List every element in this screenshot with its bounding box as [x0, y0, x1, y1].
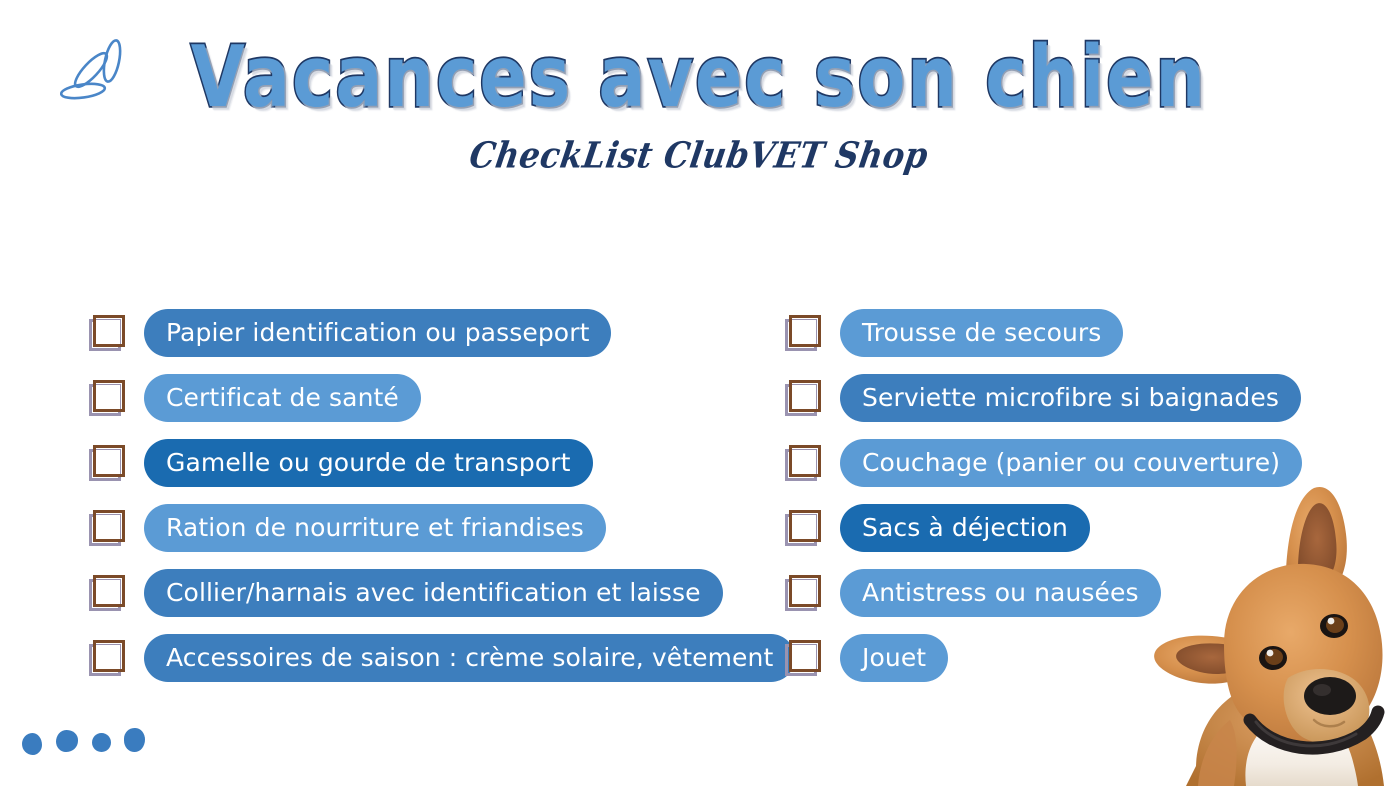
- checkbox-border-square: [93, 640, 125, 672]
- checkbox-border-square: [789, 380, 821, 412]
- checklist-item-label[interactable]: Accessoires de saison : crème solaire, v…: [144, 634, 795, 682]
- checklist-row[interactable]: Papier identification ou passeport: [88, 300, 795, 365]
- checklist-item-label[interactable]: Papier identification ou passeport: [144, 309, 611, 357]
- checklist-column-left: Papier identification ou passeportCertif…: [88, 300, 795, 690]
- checkbox-border-square: [93, 380, 125, 412]
- checkbox-right-5[interactable]: [784, 574, 822, 612]
- checkbox-left-4[interactable]: [88, 509, 126, 547]
- page-subtitle: CheckList ClubVET Shop: [467, 134, 932, 177]
- checklist-item-label[interactable]: Ration de nourriture et friandises: [144, 504, 606, 552]
- checklist-row[interactable]: Collier/harnais avec identification et l…: [88, 560, 795, 625]
- checkbox-right-6[interactable]: [784, 639, 822, 677]
- page-subtitle-container: CheckList ClubVET Shop: [0, 136, 1398, 174]
- checklist-row[interactable]: Accessoires de saison : crème solaire, v…: [88, 625, 795, 690]
- checkbox-border-square: [789, 575, 821, 607]
- checklist-row[interactable]: Ration de nourriture et friandises: [88, 495, 795, 560]
- checkbox-border-square: [93, 510, 125, 542]
- checklist-item-label[interactable]: Antistress ou nausées: [840, 569, 1161, 617]
- dot-icon: [92, 733, 111, 752]
- page-title-container: Vacances avec son chien: [0, 34, 1398, 106]
- checkbox-left-6[interactable]: [88, 639, 126, 677]
- checkbox-border-square: [789, 445, 821, 477]
- checklist-row[interactable]: Certificat de santé: [88, 365, 795, 430]
- checkbox-right-1[interactable]: [784, 314, 822, 352]
- checklist-item-label[interactable]: Jouet: [840, 634, 948, 682]
- checkbox-left-5[interactable]: [88, 574, 126, 612]
- page-title: Vacances avec son chien: [191, 34, 1207, 119]
- four-dots-decoration: [22, 728, 152, 760]
- checklist-item-label[interactable]: Trousse de secours: [840, 309, 1123, 357]
- checkbox-left-3[interactable]: [88, 444, 126, 482]
- checklist-row[interactable]: Serviette microfibre si baignades: [784, 365, 1302, 430]
- checkbox-border-square: [789, 510, 821, 542]
- dot-icon: [22, 733, 42, 755]
- checklist-item-label[interactable]: Gamelle ou gourde de transport: [144, 439, 593, 487]
- checkbox-right-4[interactable]: [784, 509, 822, 547]
- checklist-poster: Vacances avec son chien CheckList ClubVE…: [0, 0, 1398, 786]
- checkbox-right-2[interactable]: [784, 379, 822, 417]
- checkbox-border-square: [93, 575, 125, 607]
- checklist-item-label[interactable]: Certificat de santé: [144, 374, 421, 422]
- checklist-row[interactable]: Gamelle ou gourde de transport: [88, 430, 795, 495]
- checkbox-border-square: [93, 445, 125, 477]
- checklist-item-label[interactable]: Serviette microfibre si baignades: [840, 374, 1301, 422]
- checklist-item-label[interactable]: Collier/harnais avec identification et l…: [144, 569, 723, 617]
- checkbox-border-square: [93, 315, 125, 347]
- checkbox-border-square: [789, 315, 821, 347]
- checklist-row[interactable]: Trousse de secours: [784, 300, 1302, 365]
- sparkle-flourish-icon: [60, 34, 136, 110]
- checkbox-left-1[interactable]: [88, 314, 126, 352]
- dot-icon: [56, 730, 78, 752]
- checklist-item-label[interactable]: Sacs à déjection: [840, 504, 1090, 552]
- checkbox-border-square: [789, 640, 821, 672]
- checkbox-right-3[interactable]: [784, 444, 822, 482]
- checkbox-left-2[interactable]: [88, 379, 126, 417]
- dot-icon: [124, 728, 145, 752]
- dog-head-tilted-photo: [1138, 466, 1398, 786]
